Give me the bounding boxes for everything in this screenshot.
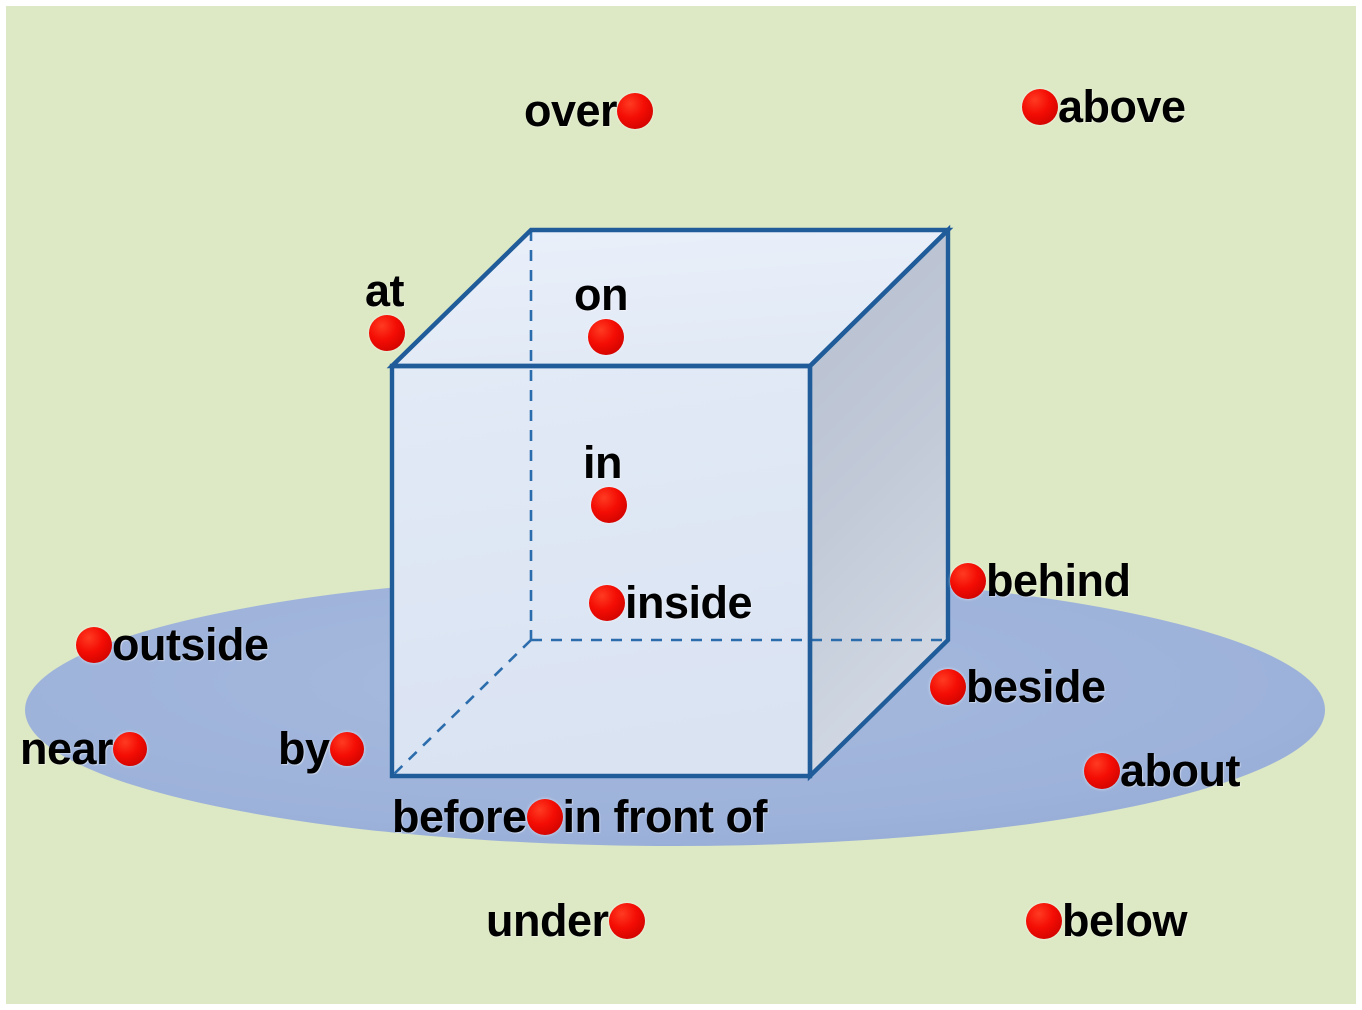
marker-dot-about	[1084, 753, 1120, 789]
label-outside: outside	[76, 622, 269, 667]
marker-dot-in	[591, 487, 627, 523]
cube-and-ellipse-graphic	[0, 0, 1362, 1010]
marker-dot-above	[1022, 89, 1058, 125]
marker-dot-over	[617, 93, 653, 129]
diagram-canvas: over above at on in inside behind outsid…	[0, 0, 1362, 1010]
marker-dot-under	[609, 903, 645, 939]
label-in-front-of-text: in front of	[563, 794, 767, 839]
marker-dot-behind	[950, 563, 986, 599]
marker-dot-on	[588, 319, 624, 355]
label-inside-text: inside	[625, 580, 752, 625]
marker-dot-inside	[589, 585, 625, 621]
label-on-text: on	[574, 272, 628, 317]
label-behind-text: behind	[986, 558, 1130, 603]
label-on: on	[574, 272, 628, 355]
label-by-text: by	[278, 726, 330, 771]
label-over-text: over	[524, 88, 617, 133]
marker-dot-by	[330, 732, 364, 766]
label-before-in-front-of: before in front of	[392, 794, 767, 839]
label-inside: inside	[589, 580, 752, 625]
label-below: below	[1026, 898, 1187, 943]
label-near: near	[20, 726, 147, 771]
label-above: above	[1022, 84, 1186, 129]
label-in-text: in	[583, 440, 622, 485]
label-outside-text: outside	[112, 622, 269, 667]
label-above-text: above	[1058, 84, 1186, 129]
label-below-text: below	[1062, 898, 1187, 943]
label-before-text: before	[392, 794, 527, 839]
label-about: about	[1084, 748, 1240, 793]
marker-dot-before-in-front-of	[527, 799, 563, 835]
label-under-text: under	[486, 898, 609, 943]
label-at-text: at	[365, 268, 404, 313]
label-under: under	[486, 898, 645, 943]
label-at: at	[365, 268, 405, 351]
label-beside-text: beside	[966, 664, 1106, 709]
label-about-text: about	[1120, 748, 1240, 793]
label-beside: beside	[930, 664, 1106, 709]
marker-dot-below	[1026, 903, 1062, 939]
label-by: by	[278, 726, 364, 771]
marker-dot-beside	[930, 669, 966, 705]
label-in: in	[583, 440, 627, 523]
marker-dot-near	[113, 732, 147, 766]
label-over: over	[524, 88, 653, 133]
marker-dot-outside	[76, 627, 112, 663]
marker-dot-at	[369, 315, 405, 351]
label-behind: behind	[950, 558, 1130, 603]
label-near-text: near	[20, 726, 113, 771]
